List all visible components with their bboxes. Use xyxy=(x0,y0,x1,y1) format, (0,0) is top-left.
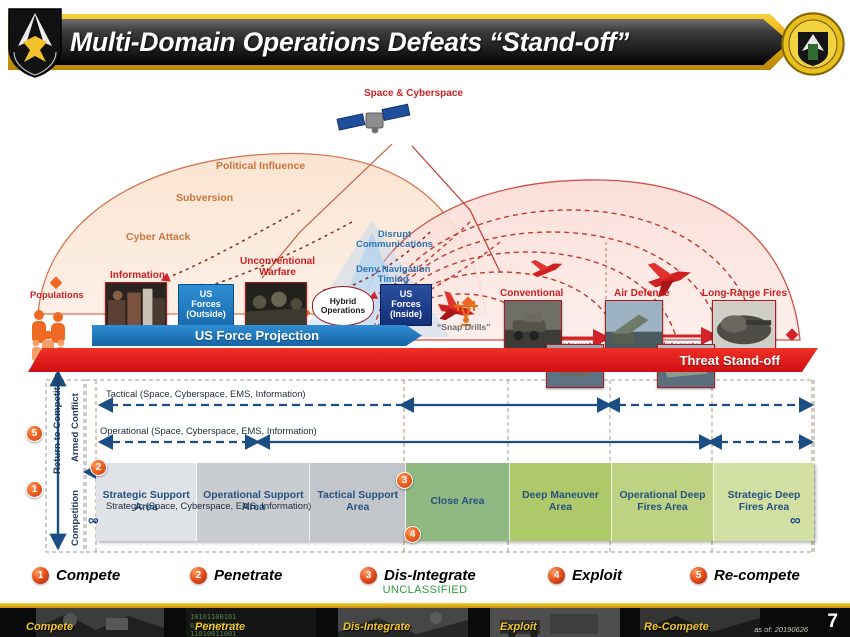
footer-word-dis-integrate: Dis-Integrate xyxy=(343,621,410,633)
zone-operational-deep-fires-area[interactable]: Operational Deep Fires Area xyxy=(612,463,714,541)
classification-marking: UNCLASSIFIED xyxy=(0,584,850,596)
legend-item-exploit[interactable]: 4 Exploit xyxy=(548,567,622,584)
satellite-icon xyxy=(337,104,410,133)
diagram-badge-4[interactable]: 4 xyxy=(404,526,421,543)
us-force-projection-banner: US Force Projection xyxy=(92,325,422,346)
legend-label: Re-compete xyxy=(714,567,800,584)
legend-badge: 3 xyxy=(360,567,377,584)
army-futures-command-shield-icon xyxy=(6,6,64,80)
diagram-badge-3[interactable]: 3 xyxy=(396,472,413,489)
us-forces-outside-label: USForces(Outside) xyxy=(186,290,226,320)
zone-deep-maneuver-area[interactable]: Deep Maneuver Area xyxy=(510,463,612,541)
slide-root: Multi-Domain Operations Defeats “Stand-o… xyxy=(0,0,850,637)
svg-text:10101100101: 10101100101 xyxy=(190,613,236,621)
footer-word-exploit: Exploit xyxy=(500,621,537,633)
page-title: Multi-Domain Operations Defeats “Stand-o… xyxy=(70,20,770,64)
step-legend: 1 Compete 2 Penetrate 3 Dis-Integrate 4 … xyxy=(0,557,850,603)
legend-label: Compete xyxy=(56,567,120,584)
us-forces-outside-box: USForces(Outside) xyxy=(178,284,234,326)
hybrid-operations-cloud: HybridOperations xyxy=(312,286,374,326)
legend-badge: 2 xyxy=(190,567,207,584)
zone-label: Deep Maneuver Area xyxy=(510,490,611,515)
photo-unconventional-warfare xyxy=(245,282,307,326)
photo-air-defense xyxy=(605,300,663,350)
photo-long-range-fires xyxy=(712,300,776,350)
zone-label: Tactical Support Area xyxy=(310,490,405,515)
infinity-symbol-right: ∞ xyxy=(790,512,801,529)
diagram-badge-2[interactable]: 2 xyxy=(90,459,107,476)
footer-word-penetrate: Penetrate xyxy=(195,621,245,633)
legend-label: Dis-Integrate xyxy=(384,567,476,584)
us-forces-inside-label: USForces(Inside) xyxy=(390,290,422,320)
footer-word-compete: Compete xyxy=(26,621,73,633)
legend-item-re-compete[interactable]: 5 Re-compete xyxy=(690,567,800,584)
zone-close-area[interactable]: Close Area xyxy=(406,463,510,541)
legend-item-dis-integrate[interactable]: 3 Dis-Integrate xyxy=(360,567,476,584)
us-forces-inside-box: USForces(Inside) xyxy=(380,284,432,326)
diagram-badge-1[interactable]: 1 xyxy=(26,481,43,498)
row-label-operational: Operational (Space, Cyberspace, EMS, Inf… xyxy=(100,425,317,436)
legend-label: Exploit xyxy=(572,567,622,584)
photo-conventional xyxy=(504,300,562,350)
zone-tactical-support-area[interactable]: Tactical Support Area xyxy=(310,463,406,541)
legend-label: Penetrate xyxy=(214,567,282,584)
vlabel-armed-conflict: Armed Conflict xyxy=(70,384,81,462)
vlabel-return-to-competition: Return to Competition xyxy=(52,382,63,474)
hybrid-operations-label: HybridOperations xyxy=(321,297,365,315)
legend-badge: 1 xyxy=(32,567,49,584)
zone-label: Close Area xyxy=(431,496,485,508)
photo-information xyxy=(105,282,167,326)
zone-label: Operational Deep Fires Area xyxy=(612,490,713,515)
army-futures-command-seal-icon xyxy=(780,6,846,78)
zone-label: Strategic Deep Fires Area xyxy=(714,490,814,515)
footer-as-of-date: as of: 20190626 xyxy=(754,625,808,634)
legend-badge: 4 xyxy=(548,567,565,584)
footer-word-re-compete: Re-Compete xyxy=(644,621,709,633)
threat-stand-off-banner: Threat Stand-off xyxy=(28,348,818,372)
diagram-canvas: Space & Cyberspace Political Influence S… xyxy=(0,82,850,557)
legend-item-compete[interactable]: 1 Compete xyxy=(32,567,120,584)
zone-strategic-deep-fires-area[interactable]: Strategic Deep Fires Area xyxy=(714,463,814,541)
footer-page-number: 7 xyxy=(827,611,838,633)
slide-footer: 10101100101 01101001110 11010011001 xyxy=(0,603,850,637)
row-label-tactical: Tactical (Space, Cyberspace, EMS, Inform… xyxy=(106,388,306,399)
legend-item-penetrate[interactable]: 2 Penetrate xyxy=(190,567,282,584)
diagram-badge-5[interactable]: 5 xyxy=(26,425,43,442)
legend-badge: 5 xyxy=(690,567,707,584)
row-label-strategic: Strategic (Space, Cyberspace, EMS, Infor… xyxy=(106,500,311,511)
slide-header: Multi-Domain Operations Defeats “Stand-o… xyxy=(0,0,850,82)
infinity-symbol-left: ∞ xyxy=(88,512,99,529)
vlabel-competition: Competition xyxy=(70,468,81,546)
